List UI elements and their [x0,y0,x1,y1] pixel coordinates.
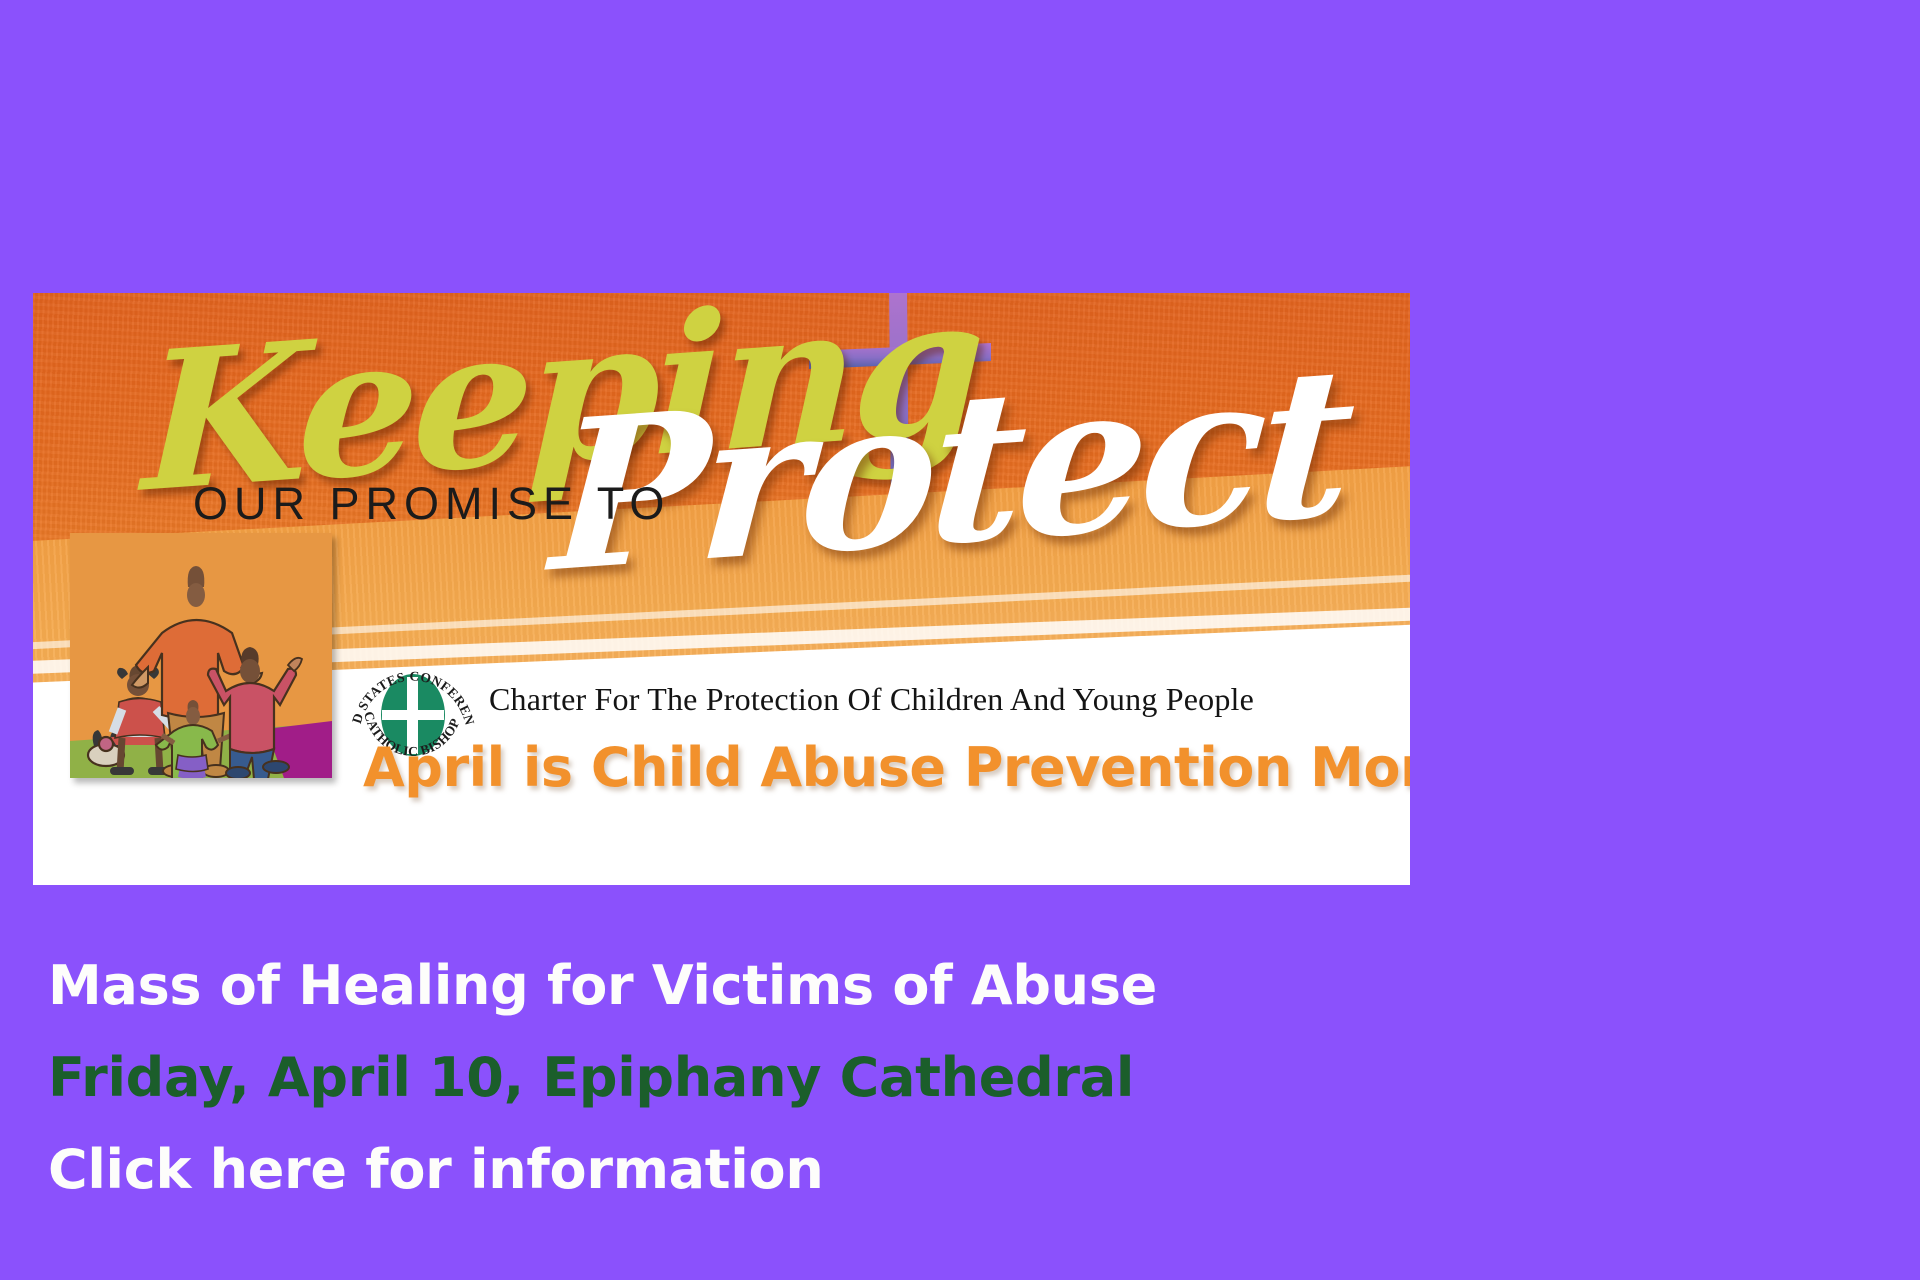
headline-protect: Protect [547,340,1354,602]
april-prevention-month-text: April is Child Abuse Prevention Month [363,736,1410,799]
caption-line-title: Mass of Healing for Victims of Abuse [48,940,1548,1032]
caption-link-click-here[interactable]: Click here for information [48,1124,1548,1216]
family-illustration [70,533,332,778]
caption-block: Mass of Healing for Victims of Abuse Fri… [48,940,1548,1216]
caption-line-date-location: Friday, April 10, Epiphany Cathedral [48,1032,1548,1124]
promise-to-protect-banner[interactable]: Keeping Protect OUR PROMISE TO [33,293,1410,885]
headline-our-promise-to: OUR PROMISE TO [193,478,670,530]
charter-text: Charter For The Protection Of Children A… [489,681,1254,718]
